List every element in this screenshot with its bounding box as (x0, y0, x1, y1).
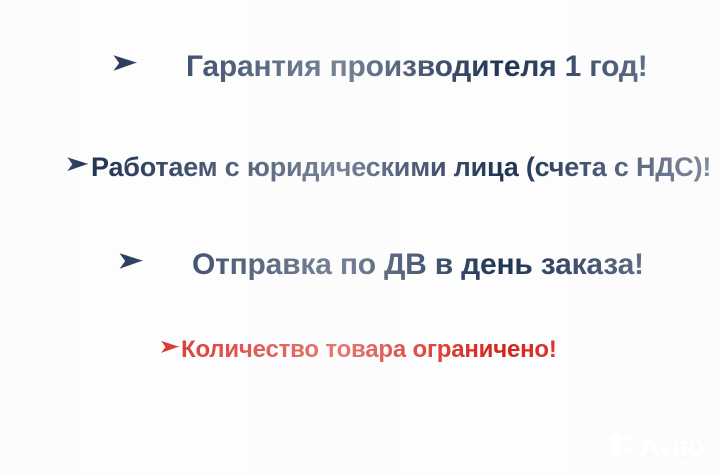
bullet-line-3-label: Отправка по ДВ в день заказа! (192, 248, 644, 282)
bullet-line-1-label: Гарантия производителя 1 год! (186, 50, 648, 84)
bullet-line-3: Отправка по ДВ в день заказа! (118, 248, 644, 282)
bullet-line-2: Работаем с юридическими лица (счета с НД… (66, 152, 711, 183)
avito-watermark: Avito (609, 432, 704, 463)
arrowhead-bullet-icon (118, 250, 144, 272)
bullet-line-2-label: Работаем с юридическими лица (счета с НД… (91, 152, 711, 183)
arrowhead-bullet-icon (66, 154, 89, 174)
bullet-line-4-label: Количество товара ограничено! (181, 336, 557, 364)
arrowhead-bullet-icon (112, 52, 138, 74)
avito-wordmark: Avito (640, 434, 704, 461)
avito-dots-logo-icon (609, 432, 635, 463)
bullet-line-4: Количество товара ограничено! (160, 336, 557, 364)
arrowhead-bullet-icon (160, 339, 180, 356)
promo-poster: Гарантия производителя 1 год! Работаем с… (0, 0, 720, 475)
bullet-line-1: Гарантия производителя 1 год! (112, 50, 648, 84)
